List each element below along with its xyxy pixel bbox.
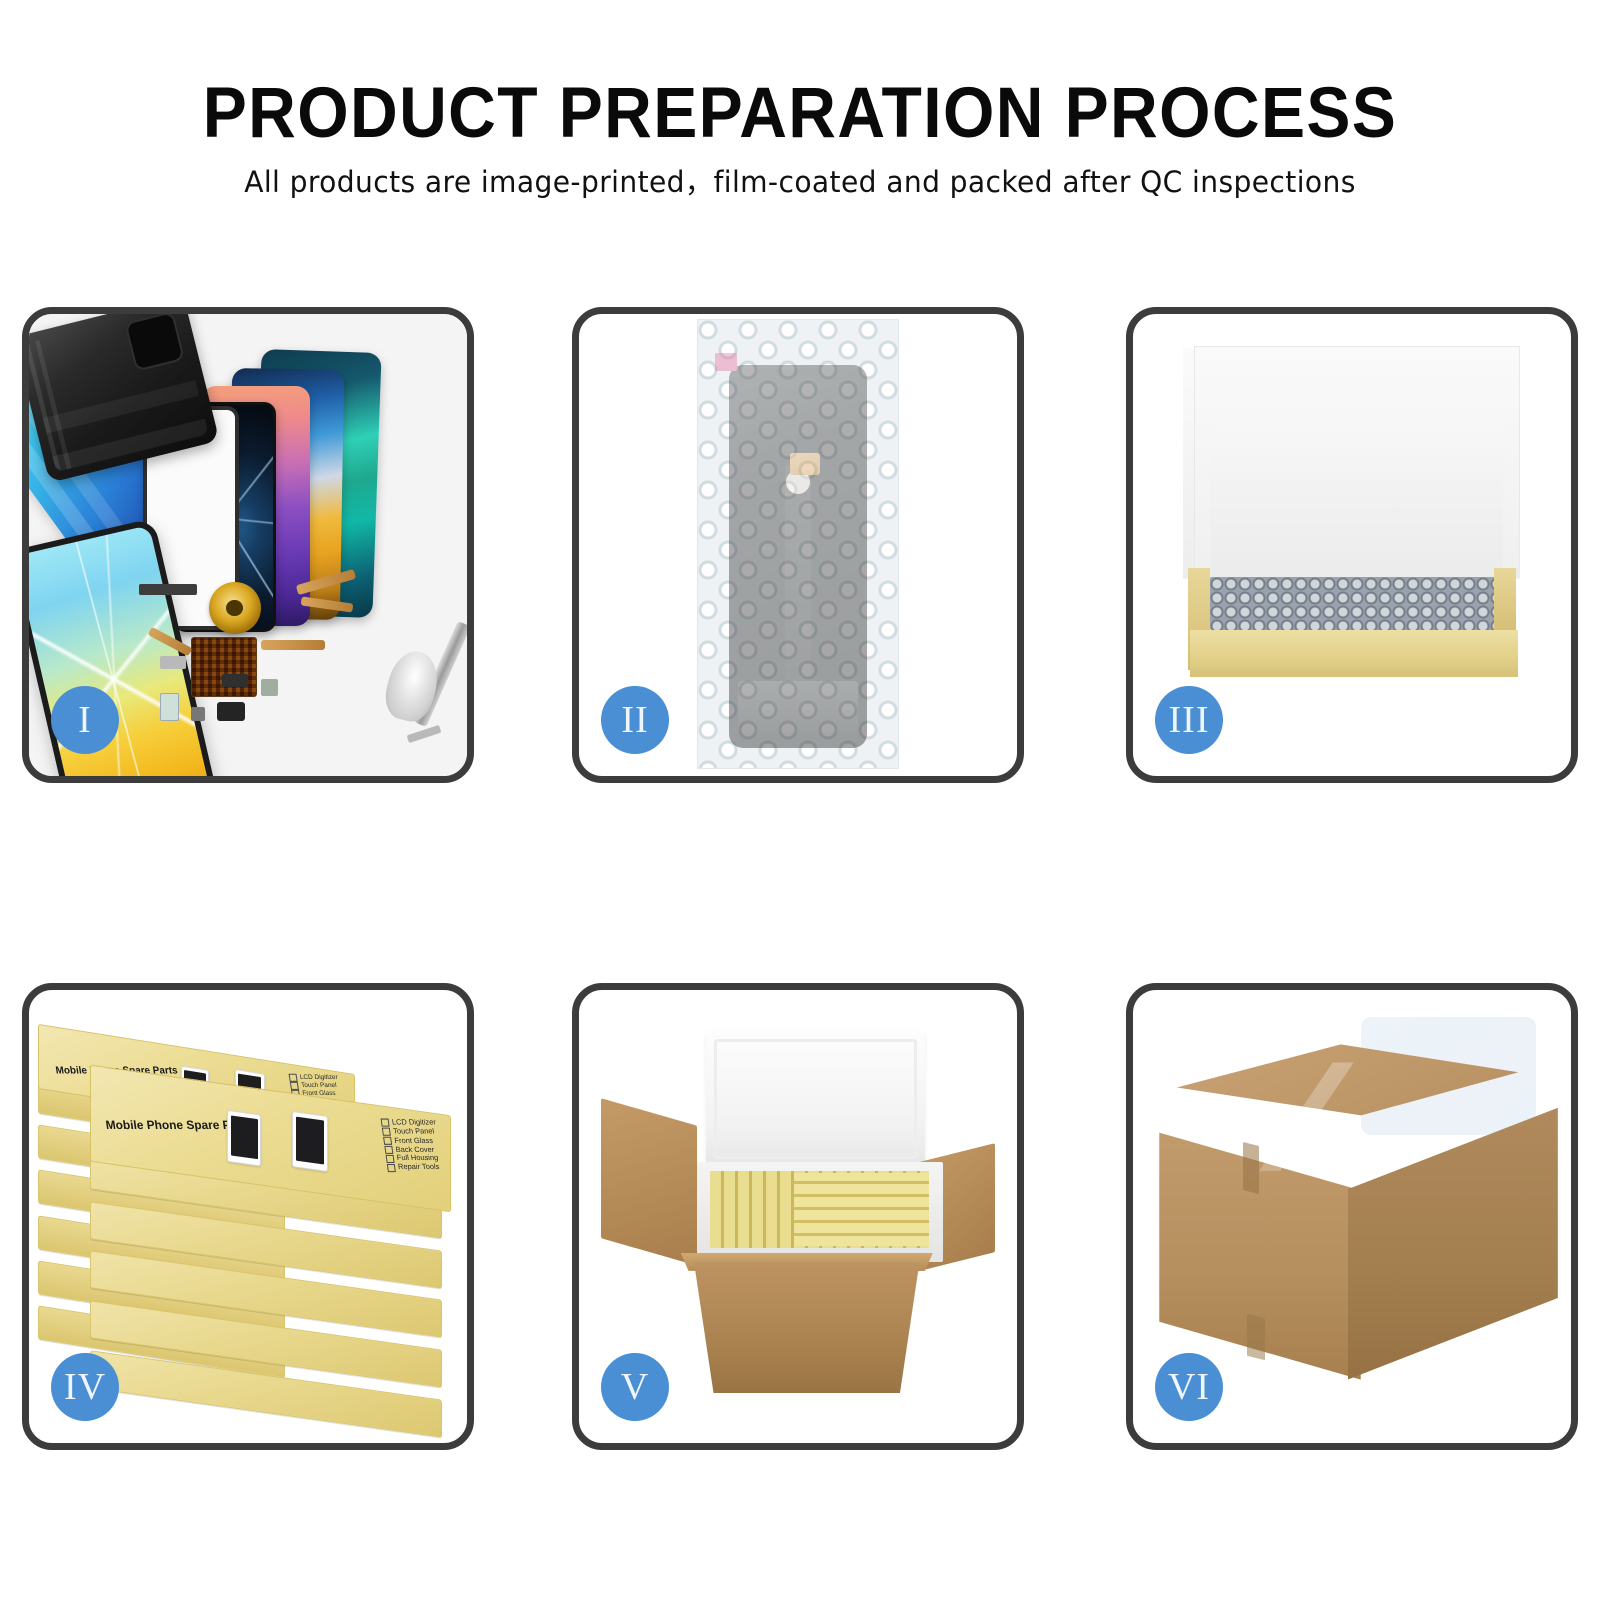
packed-retail-boxes-row-b [794, 1173, 930, 1245]
process-step-grid: I II [0, 0, 1600, 1600]
step-badge-6-label: VI [1168, 1365, 1210, 1409]
logic-chip [191, 637, 257, 697]
grey-bubble-wrap-insert [1210, 577, 1503, 630]
step-badge-4: IV [51, 1353, 119, 1421]
small-component-c [191, 707, 205, 721]
step-badge-1: I [51, 686, 119, 754]
step-badge-2-label: II [621, 698, 648, 742]
volume-button-flex [261, 640, 325, 650]
checklist-item: Front Glass [394, 1136, 434, 1145]
checklist-item: LCD Digitizer [300, 1074, 339, 1082]
connector-part [160, 656, 186, 669]
speaker-part [139, 584, 197, 595]
carton-front-wall [684, 1262, 929, 1393]
box-tray-side-right [1494, 568, 1516, 637]
taptic-engine [217, 702, 245, 721]
step-badge-3-label: III [1169, 698, 1210, 742]
checklist-item: Touch Panel [301, 1082, 338, 1090]
step-badge-1-label: I [78, 698, 92, 742]
step-badge-3: III [1155, 686, 1223, 754]
box-tray-front [1190, 630, 1519, 676]
process-step-2: II [572, 307, 1024, 783]
step-badge-5: V [601, 1353, 669, 1421]
checklist-item: LCD Digitizer [392, 1118, 437, 1127]
white-foam-sheet [1210, 425, 1503, 582]
process-step-4: Mobile Phone Spare Parts LCD Digitizer T… [22, 983, 474, 1450]
wireless-charging-coil [209, 582, 261, 634]
box-thumb-phone-c [228, 1109, 262, 1166]
box-checklist-front: LCD Digitizer Touch Panel Front Glass Ba… [381, 1118, 443, 1172]
foam-lid [706, 1031, 925, 1167]
bubble-wrap-overlay [697, 319, 899, 769]
carton-tape-patch-upper [1243, 1142, 1259, 1194]
step-badge-2: II [601, 686, 669, 754]
carton-flap-left [601, 1098, 697, 1266]
checklist-item: Back Cover [396, 1145, 436, 1154]
step-badge-6: VI [1155, 1353, 1223, 1421]
carton-right-face [1348, 1108, 1558, 1380]
process-step-5: V [572, 983, 1024, 1450]
process-step-3: III [1126, 307, 1578, 783]
checklist-item: Full Housing [397, 1154, 440, 1163]
carton-tape-patch-lower [1247, 1314, 1265, 1360]
step-badge-5-label: V [621, 1365, 649, 1409]
small-component-b [261, 679, 278, 696]
box-thumb-phone-d [292, 1111, 328, 1172]
checklist-item: Touch Panel [393, 1127, 435, 1136]
sim-tray [160, 693, 179, 721]
process-step-1: I [22, 307, 474, 783]
small-component-a [222, 674, 248, 687]
step-badge-4-label: IV [64, 1365, 106, 1409]
process-step-6: VI [1126, 983, 1578, 1450]
checklist-item: Repair Tools [398, 1163, 440, 1172]
